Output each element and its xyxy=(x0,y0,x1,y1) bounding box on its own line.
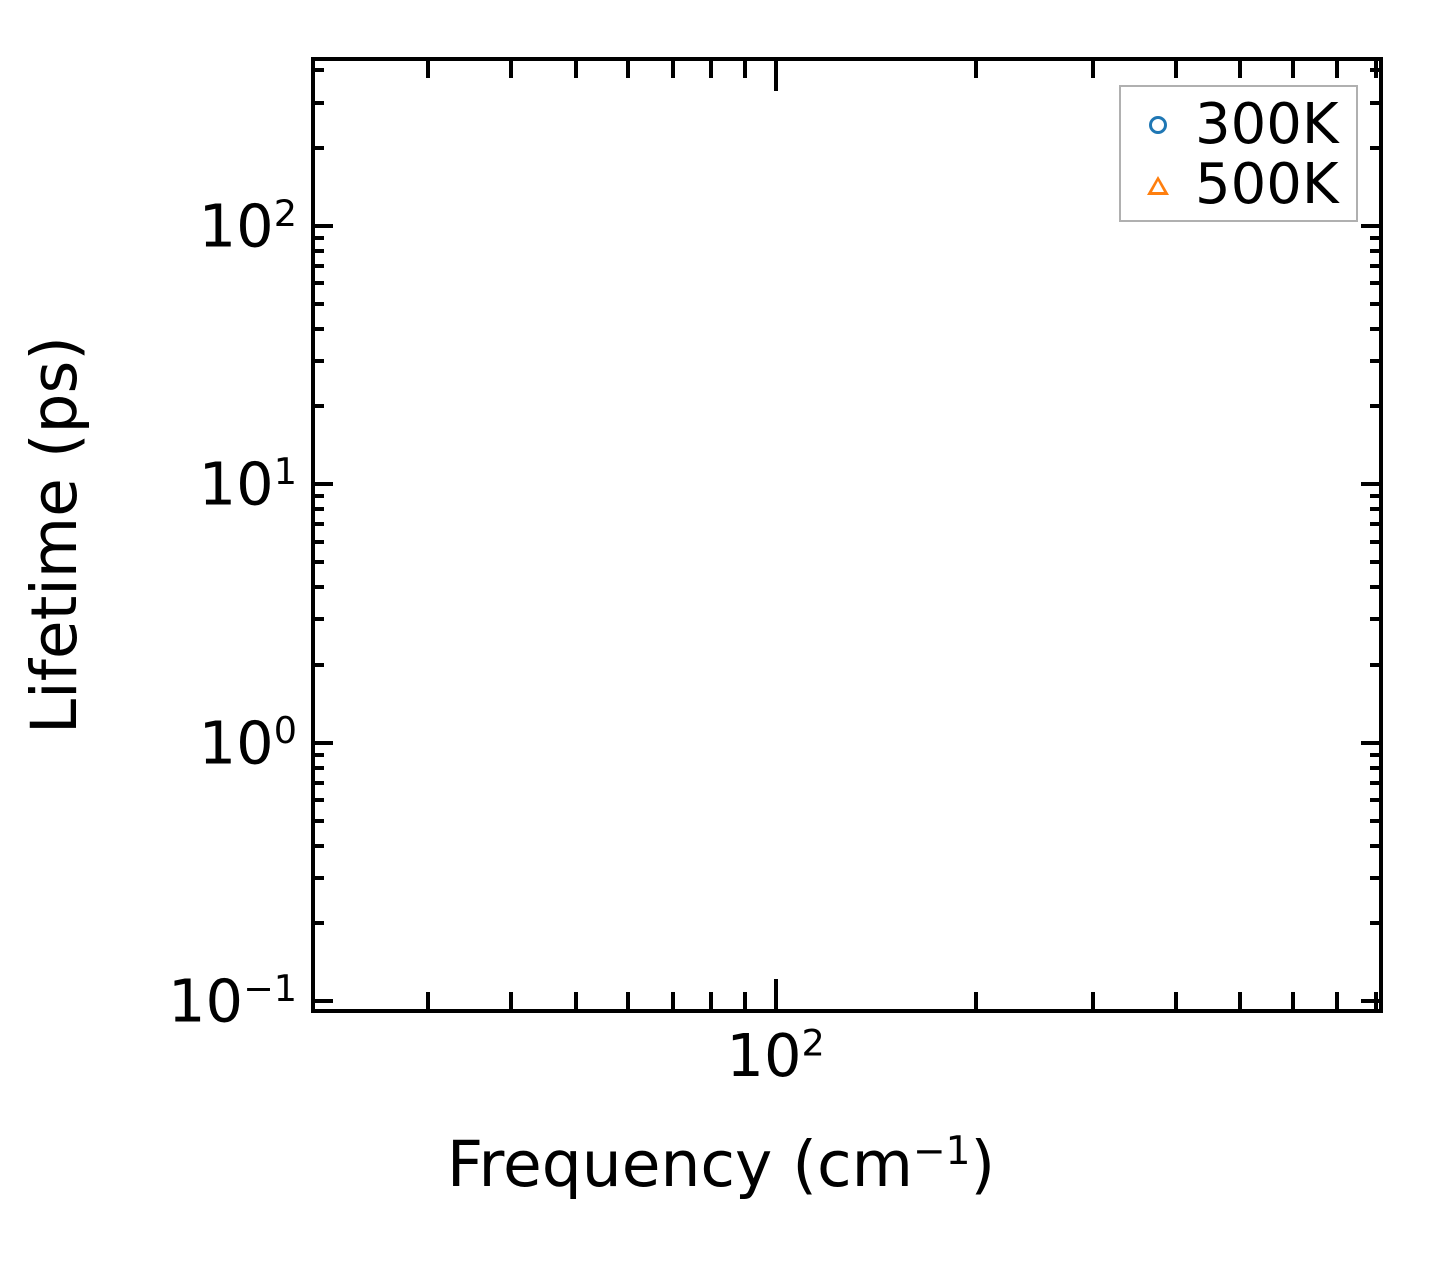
y-tick-minor xyxy=(311,68,324,72)
y-tick-minor-right xyxy=(1370,585,1383,589)
x-tick-minor-top xyxy=(1174,57,1178,78)
x-tick-minor-top xyxy=(1091,57,1095,78)
y-tick-minor-right xyxy=(1370,663,1383,667)
x-tick-minor xyxy=(1174,992,1178,1013)
figure-root: 10−1100101102102 Frequency (cm−1) Lifeti… xyxy=(0,0,1442,1265)
x-tick-minor xyxy=(626,992,630,1013)
legend-entry-300k[interactable]: 300K xyxy=(1121,95,1356,155)
y-tick-minor xyxy=(311,921,324,925)
y-tick-major xyxy=(311,482,333,486)
y-tick-minor xyxy=(311,236,324,240)
x-tick-minor xyxy=(1335,992,1339,1013)
y-tick-minor-right xyxy=(1370,146,1383,150)
x-axis-title-text: Frequency (cm xyxy=(447,1128,913,1201)
y-tick-minor-right xyxy=(1370,753,1383,757)
y-tick-label: 10−1 xyxy=(168,972,297,1031)
x-tick-minor xyxy=(509,992,513,1013)
x-tick-minor xyxy=(671,992,675,1013)
x-tick-minor xyxy=(574,992,578,1013)
y-tick-minor xyxy=(311,876,324,880)
y-tick-minor-right xyxy=(1370,101,1383,105)
x-tick-minor-top xyxy=(509,57,513,78)
y-tick-minor xyxy=(311,540,324,544)
y-axis-title: Lifetime (ps) xyxy=(0,57,110,1013)
circle-marker-icon xyxy=(1121,116,1195,134)
y-tick-minor-right xyxy=(1370,507,1383,511)
x-tick-minor-top xyxy=(574,57,578,78)
y-tick-minor xyxy=(311,753,324,757)
y-tick-minor-right xyxy=(1370,236,1383,240)
y-tick-minor-right xyxy=(1370,781,1383,785)
x-tick-minor-top xyxy=(743,57,747,78)
x-tick-minor xyxy=(709,992,713,1013)
y-tick-minor-right xyxy=(1370,766,1383,770)
y-tick-minor-right xyxy=(1370,264,1383,268)
y-tick-minor-right xyxy=(1370,798,1383,802)
y-tick-minor xyxy=(311,494,324,498)
y-tick-minor xyxy=(311,663,324,667)
legend-box[interactable]: 300K 500K xyxy=(1119,85,1358,222)
y-tick-label: 101 xyxy=(199,455,297,514)
x-tick-minor xyxy=(1291,992,1295,1013)
x-tick-minor-top xyxy=(1335,57,1339,78)
y-tick-minor xyxy=(311,617,324,621)
y-tick-label: 102 xyxy=(199,196,297,255)
y-tick-minor xyxy=(311,781,324,785)
x-axis-title-exponent: −1 xyxy=(913,1129,971,1174)
x-tick-minor-top xyxy=(1374,57,1378,78)
x-tick-minor-top xyxy=(626,57,630,78)
y-tick-minor xyxy=(311,327,324,331)
y-tick-minor-right xyxy=(1370,494,1383,498)
y-tick-minor xyxy=(311,249,324,253)
y-tick-minor xyxy=(311,101,324,105)
y-tick-minor xyxy=(311,359,324,363)
x-tick-minor xyxy=(1374,992,1378,1013)
x-tick-minor-top xyxy=(1291,57,1295,78)
y-tick-minor xyxy=(311,585,324,589)
x-tick-minor-top xyxy=(974,57,978,78)
y-tick-minor-right xyxy=(1370,249,1383,253)
y-tick-minor xyxy=(311,281,324,285)
legend-label-500k: 500K xyxy=(1195,157,1339,213)
x-tick-minor-top xyxy=(426,57,430,78)
x-tick-minor-top xyxy=(1238,57,1242,78)
y-tick-minor xyxy=(311,146,324,150)
x-tick-major-top xyxy=(774,57,778,91)
y-tick-minor xyxy=(311,404,324,408)
y-tick-major-right xyxy=(1361,482,1383,486)
x-tick-label: 102 xyxy=(726,1026,824,1085)
y-tick-major xyxy=(311,224,333,228)
x-tick-minor xyxy=(974,992,978,1013)
x-tick-minor-top xyxy=(709,57,713,78)
legend-entry-500k[interactable]: 500K xyxy=(1121,155,1356,215)
x-axis-title: Frequency (cm−1) xyxy=(0,1128,1442,1201)
y-tick-minor xyxy=(311,560,324,564)
y-tick-minor-right xyxy=(1370,522,1383,526)
y-tick-minor-right xyxy=(1370,876,1383,880)
y-tick-minor xyxy=(311,302,324,306)
x-tick-minor xyxy=(426,992,430,1013)
y-tick-major-right xyxy=(1361,224,1383,228)
y-tick-minor xyxy=(311,766,324,770)
y-tick-minor xyxy=(311,264,324,268)
x-tick-minor xyxy=(743,992,747,1013)
y-tick-minor-right xyxy=(1370,819,1383,823)
y-tick-minor-right xyxy=(1370,617,1383,621)
y-tick-minor xyxy=(311,844,324,848)
triangle-marker-icon xyxy=(1121,176,1195,195)
y-tick-minor-right xyxy=(1370,844,1383,848)
y-tick-major xyxy=(311,741,333,745)
y-tick-minor-right xyxy=(1370,560,1383,564)
x-axis-title-close: ) xyxy=(971,1128,996,1201)
y-tick-minor xyxy=(311,798,324,802)
y-tick-minor-right xyxy=(1370,921,1383,925)
legend-label-300k: 300K xyxy=(1195,97,1339,153)
x-tick-minor-top xyxy=(671,57,675,78)
y-tick-minor-right xyxy=(1370,302,1383,306)
y-tick-major-right xyxy=(1361,999,1383,1003)
x-tick-major xyxy=(774,979,778,1013)
y-tick-minor-right xyxy=(1370,327,1383,331)
x-tick-minor xyxy=(1238,992,1242,1013)
y-tick-minor-right xyxy=(1370,540,1383,544)
y-tick-major-right xyxy=(1361,741,1383,745)
y-tick-minor-right xyxy=(1370,359,1383,363)
y-tick-minor-right xyxy=(1370,281,1383,285)
y-tick-minor xyxy=(311,819,324,823)
x-tick-minor xyxy=(1091,992,1095,1013)
y-tick-major xyxy=(311,999,333,1003)
y-tick-minor-right xyxy=(1370,404,1383,408)
y-tick-label: 100 xyxy=(199,713,297,772)
y-tick-minor xyxy=(311,522,324,526)
y-tick-minor xyxy=(311,507,324,511)
